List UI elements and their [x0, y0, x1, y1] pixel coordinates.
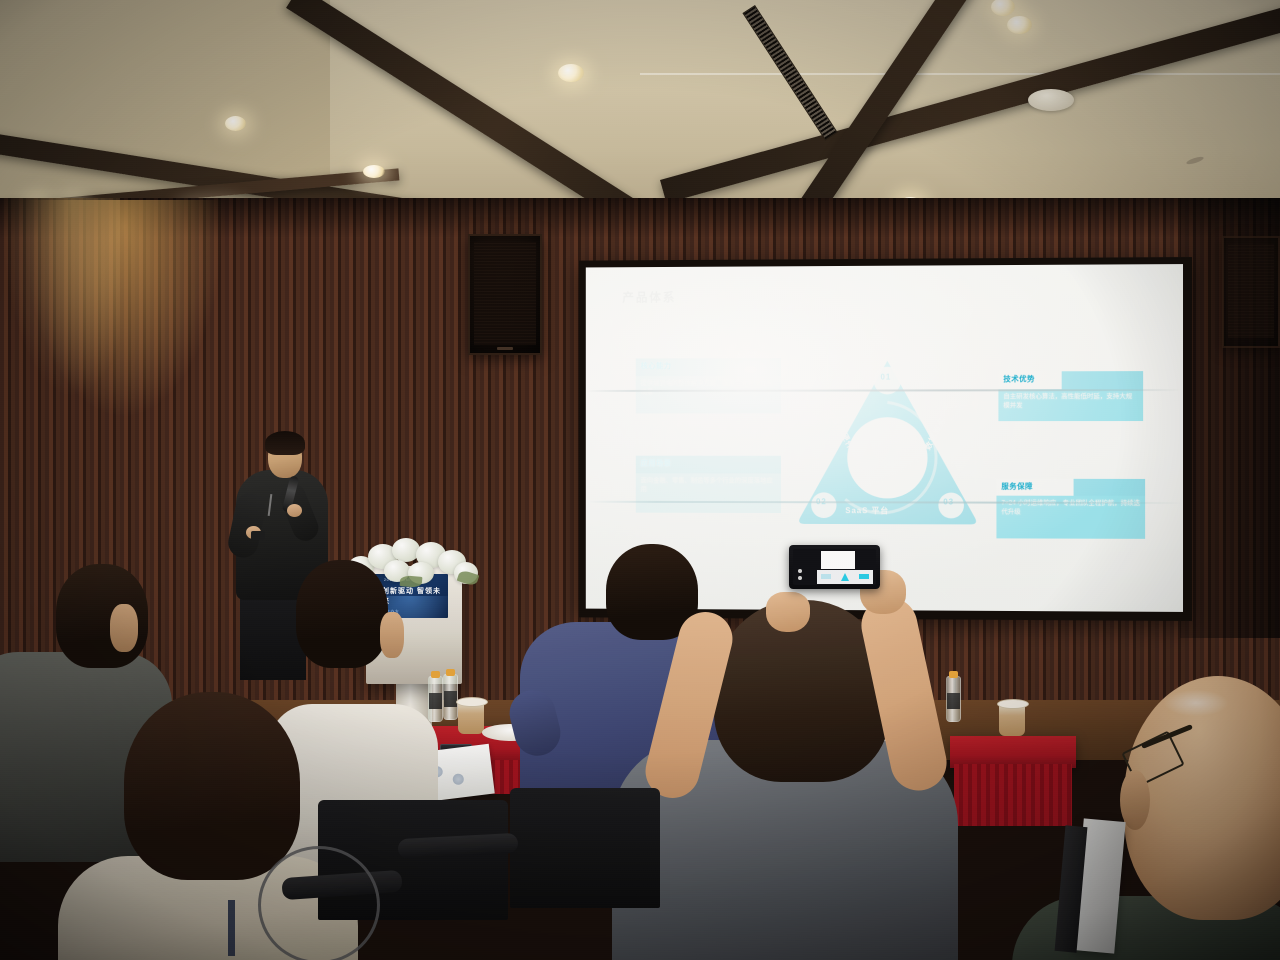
slide-title: 产品体系	[622, 289, 676, 306]
slide-box-top-right: 技术优势 自主研发核心算法，高性能低时延，支持大规模并发	[998, 371, 1143, 421]
ceiling-speaker-disc-icon	[1028, 89, 1074, 111]
ceiling	[0, 0, 1280, 215]
coffee-cup-right	[999, 702, 1025, 736]
spotlight-7	[1007, 16, 1032, 34]
attendee-grey-suit-face	[110, 604, 138, 652]
slide-box-bottom-left-heading: 应用场景	[636, 456, 781, 474]
cup-rim-right	[997, 699, 1029, 709]
slide-box-top-left-heading: 核心能力	[636, 358, 781, 376]
water-bottle-1	[428, 676, 443, 722]
slide-box-top-left: 核心能力 提供端到端的整体解决方案，覆盖全业务流程与场景	[636, 358, 781, 413]
water-bottle-2	[443, 674, 458, 720]
bottle-label-2	[444, 691, 457, 707]
bottle-cap-icon-2	[446, 669, 455, 676]
spotlight-5	[363, 165, 385, 178]
spotlight-4	[558, 64, 584, 82]
coffee-cup-left	[458, 700, 484, 734]
speaker-grille-right-icon	[1228, 244, 1274, 338]
chair-wheel-ring	[258, 846, 380, 960]
slide-box-bottom-left: 应用场景 面向金融、零售、制造等多个行业的深度落地应用	[636, 456, 781, 513]
spotlight-1	[225, 116, 246, 131]
ceiling-seam	[640, 73, 1280, 75]
speaker-grille-icon	[474, 242, 536, 345]
bottle-label	[429, 693, 442, 709]
chair-center	[510, 788, 660, 908]
wall-light-wash-corner	[0, 198, 120, 398]
slide-box-top-right-heading: 技术优势	[998, 371, 1143, 389]
ceiling-mark	[1186, 155, 1205, 165]
slide-box-top-left-body: 提供端到端的整体解决方案，覆盖全业务流程与场景	[636, 376, 781, 414]
smartphone-preview-bright	[821, 551, 855, 569]
spotlight-6	[991, 0, 1015, 16]
smartphone[interactable]	[789, 545, 880, 589]
triangle-edge-bottom: SaaS 平台	[845, 505, 889, 516]
presenter-right-hand	[287, 504, 302, 517]
attendee-woman-hair	[124, 692, 300, 880]
speaker-badge	[497, 347, 513, 350]
attendee-white-shirt-head	[296, 560, 388, 668]
slide-box-bottom-right-heading: 服务保障	[996, 479, 1145, 496]
slide-box-bottom-left-body: 面向金融、零售、制造等多个行业的深度落地应用	[636, 473, 781, 513]
wall-speaker-right	[1222, 236, 1280, 348]
wall-top-shadow	[0, 198, 1280, 238]
cup-rim	[456, 697, 488, 707]
bottle-cap-icon-3	[949, 671, 958, 678]
table-right-skirt	[954, 764, 1072, 826]
bottle-cap-icon	[431, 671, 440, 678]
slide-box-bottom-right: 服务保障 7×24 小时运维响应，专业团队全程护航，持续迭代升级	[996, 479, 1145, 539]
wall-speaker	[468, 234, 542, 355]
photographer-left-hand	[766, 592, 810, 632]
attendee-white-shirt-ear	[380, 612, 404, 658]
triangle-node-top: 01	[881, 373, 892, 382]
conference-photo: 产品体系 核心能力 提供端到端的整体解决方案，覆盖全业务流程与场景 应用场景 面…	[0, 0, 1280, 960]
slide-box-top-right-body: 自主研发核心算法，高性能低时延，支持大规模并发	[998, 389, 1143, 421]
smartphone-screen[interactable]	[793, 549, 876, 585]
presentation-clicker	[251, 531, 265, 540]
bald-man-head-highlight	[1164, 690, 1228, 716]
bottle-label-3	[947, 693, 960, 709]
presenter-hair	[265, 431, 305, 455]
water-bottle-3	[946, 676, 961, 722]
attendee-woman-lanyard	[228, 900, 235, 956]
smartphone-preview-slide	[817, 570, 873, 584]
